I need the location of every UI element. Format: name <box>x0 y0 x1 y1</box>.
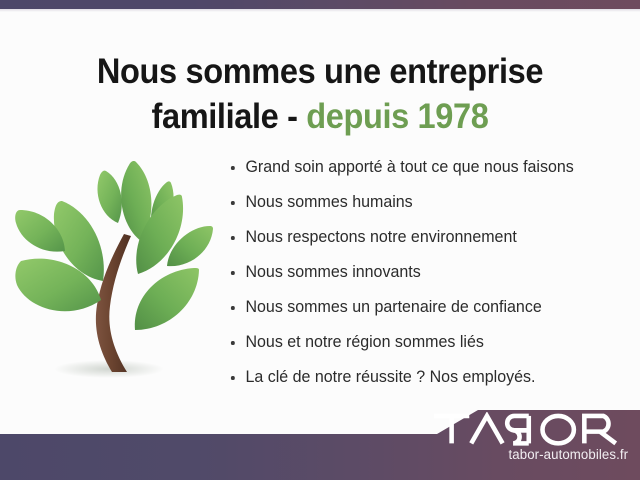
leaf <box>97 171 121 223</box>
list-item: Nous sommes un partenaire de confiance <box>228 290 626 325</box>
page-title-line-2-plain: familiale - <box>151 97 306 136</box>
list-item-label: Nous sommes humains <box>245 193 412 211</box>
marketing-slide: Nous sommes une entreprise familiale - d… <box>0 0 640 480</box>
tree-illustration <box>8 148 213 393</box>
page-title-line-1: Nous sommes une entreprise <box>97 52 543 91</box>
page-title-line-2: familiale - depuis 1978 <box>22 94 617 139</box>
page-title: Nous sommes une entreprise familiale - d… <box>22 49 617 139</box>
list-item-label: La clé de notre réussite ? Nos employés. <box>245 368 535 386</box>
list-item-label: Nous et notre région sommes liés <box>245 333 483 351</box>
benefits-list: Grand soin apporté à tout ce que nous fa… <box>228 150 638 395</box>
page-title-accent: depuis 1978 <box>306 97 488 136</box>
list-item-label: Nous sommes innovants <box>245 263 420 281</box>
brand-website-url[interactable]: tabor-automobiles.fr <box>436 447 628 462</box>
list-item: Grand soin apporté à tout ce que nous fa… <box>228 150 626 185</box>
list-item: La clé de notre réussite ? Nos employés. <box>228 360 626 395</box>
top-accent-strip-shadow <box>0 9 640 12</box>
list-item-label: Nous sommes un partenaire de confiance <box>245 298 541 316</box>
brand-logo[interactable]: tabor-automobiles.fr <box>432 412 628 462</box>
list-item: Nous sommes humains <box>228 185 626 220</box>
list-item: Nous respectons notre environnement <box>228 220 626 255</box>
list-item: Nous sommes innovants <box>228 255 626 290</box>
tabor-wordmark-icon <box>432 412 628 446</box>
leaf <box>135 268 199 330</box>
list-item-label: Nous respectons notre environnement <box>245 228 516 246</box>
list-item-label: Grand soin apporté à tout ce que nous fa… <box>245 158 573 176</box>
top-accent-strip <box>0 0 640 9</box>
list-item: Nous et notre région sommes liés <box>228 325 626 360</box>
